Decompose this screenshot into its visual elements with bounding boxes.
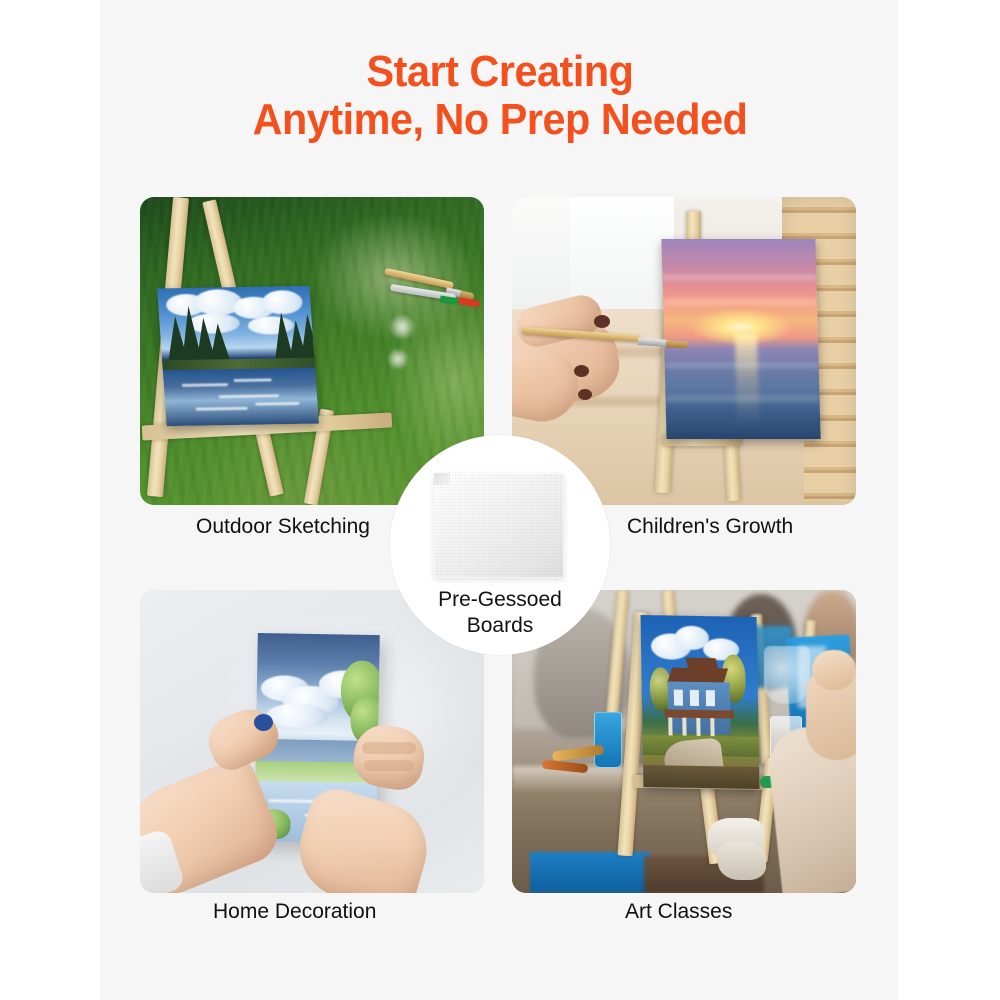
headline-line-2: Anytime, No Prep Needed (30, 96, 970, 144)
center-badge-label: Pre-Gessoed Boards (390, 587, 610, 639)
center-badge-label-line-2: Boards (467, 614, 534, 637)
infographic-page: Start Creating Anytime, No Prep Needed (0, 0, 1000, 1000)
blank-canvas-board-image (434, 473, 564, 578)
center-badge-label-line-1: Pre-Gessoed (438, 588, 562, 611)
caption-childrens-growth: Children's Growth (627, 514, 793, 540)
caption-outdoor-sketching: Outdoor Sketching (196, 514, 370, 540)
board-corner-fold (434, 473, 450, 485)
caption-home-decoration: Home Decoration (213, 899, 376, 925)
headline-line-1: Start Creating (367, 47, 634, 96)
center-product-badge[interactable]: Pre-Gessoed Boards (390, 435, 610, 655)
caption-art-classes: Art Classes (625, 899, 732, 925)
page-title: Start Creating Anytime, No Prep Needed (30, 48, 970, 144)
